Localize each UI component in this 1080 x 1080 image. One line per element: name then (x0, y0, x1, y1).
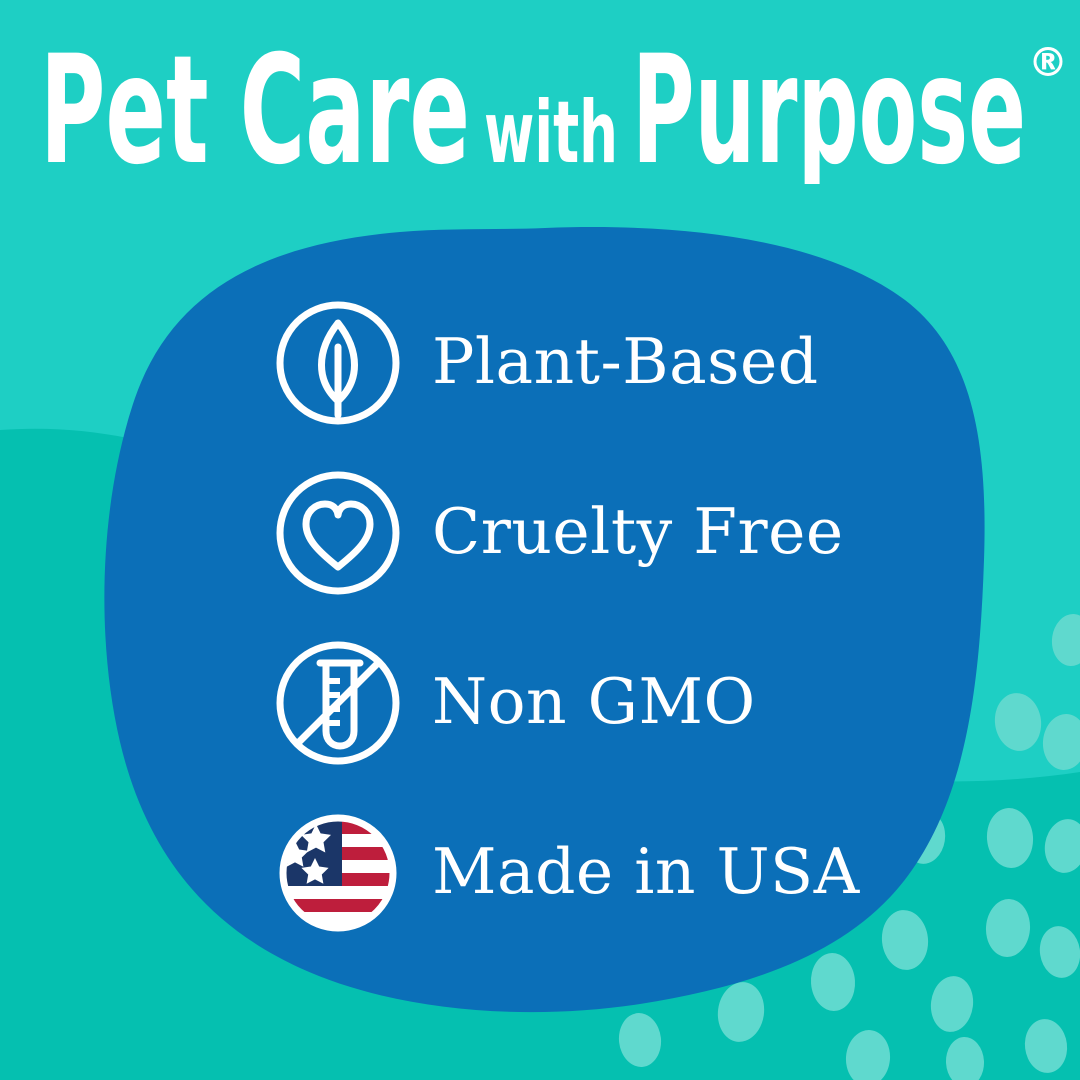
registered-trademark-icon: ® (1028, 40, 1068, 86)
feature-item-made-in-usa: Made in USA (272, 788, 912, 958)
feature-label-made-in-usa: Made in USA (424, 840, 860, 903)
promo-graphic: Pet Care with Purpose ® Plant-Based (0, 0, 1080, 1080)
headline: Pet Care with Purpose ® (0, 24, 1080, 184)
feature-item-cruelty-free: Cruelty Free (272, 448, 912, 618)
no-gmo-test-tube-icon (272, 637, 424, 769)
headline-part-2: with (484, 83, 618, 183)
feature-list: Plant-Based Cruelty Free (272, 278, 912, 958)
heart-in-circle-icon (272, 467, 424, 599)
feature-label-plant-based: Plant-Based (424, 330, 819, 393)
headline-part-1: Pet Care (40, 24, 470, 184)
leaf-in-circle-icon (272, 297, 424, 429)
feature-item-non-gmo: Non GMO (272, 618, 912, 788)
headline-part-3: Purpose (632, 24, 1026, 184)
usa-flag-badge-icon (272, 807, 424, 939)
feature-label-cruelty-free: Cruelty Free (424, 500, 844, 563)
feature-label-non-gmo: Non GMO (424, 670, 756, 733)
feature-item-plant-based: Plant-Based (272, 278, 912, 448)
